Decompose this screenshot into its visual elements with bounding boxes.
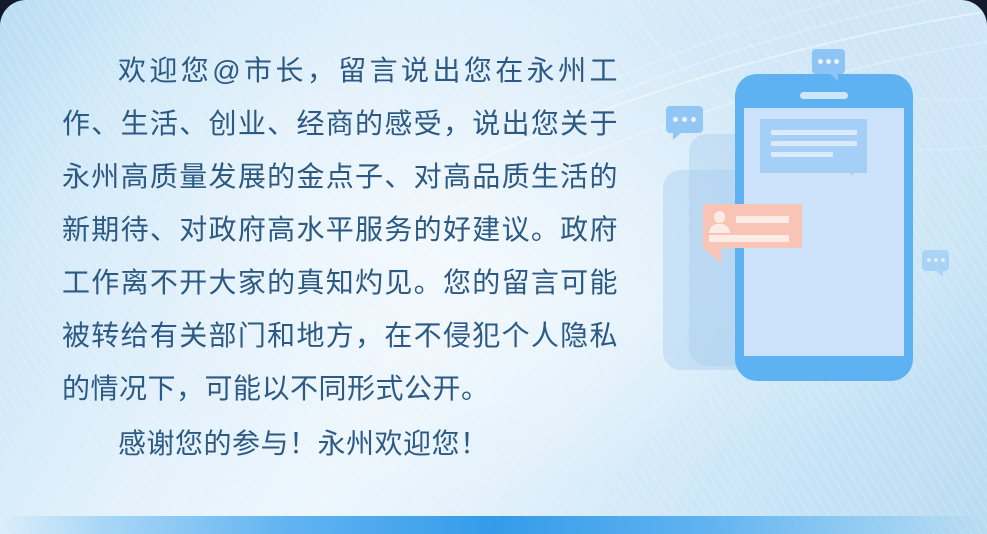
message-text-line: [771, 130, 857, 135]
notice-paragraph-main: 欢迎您@市长，留言说出您在永州工作、生活、创业、经商的感受，说出您关于永州高质量…: [62, 44, 618, 415]
user-avatar-icon: [709, 224, 730, 233]
chat-bubble-tail-icon: [673, 132, 682, 140]
reply-text-line: [736, 216, 789, 223]
chat-dot-icon: [934, 258, 938, 262]
chat-bubble-icon: [922, 250, 949, 271]
chat-bubble-tail-icon: [935, 270, 943, 277]
chat-bubble-icon: [812, 49, 845, 74]
message-text-line: [771, 141, 857, 146]
chat-bubble-icon: [666, 106, 703, 133]
message-bubble-tail-icon: [851, 162, 867, 176]
chat-dot-icon: [682, 117, 687, 122]
reply-bubble-tail-icon: [703, 248, 721, 263]
chat-dot-icon: [941, 258, 945, 262]
chat-dot-icon: [691, 117, 696, 122]
reply-text-line: [709, 235, 789, 242]
chat-dot-icon: [818, 59, 823, 64]
chat-bubble-tail-icon: [829, 73, 838, 81]
notice-paragraph-closing: 感谢您的参与！永州欢迎您！: [62, 417, 618, 470]
user-avatar-icon: [714, 211, 725, 223]
chat-dot-icon: [834, 59, 839, 64]
phone-speaker-icon: [800, 92, 848, 99]
reply-bubble-icon: [703, 204, 802, 248]
bottom-accent-bar: [0, 516, 987, 534]
mobile-message-illustration: [645, 28, 987, 448]
message-text-line: [771, 152, 833, 157]
chat-dot-icon: [826, 59, 831, 64]
notice-text-block: 欢迎您@市长，留言说出您在永州工作、生活、创业、经商的感受，说出您关于永州高质量…: [62, 44, 618, 470]
chat-dot-icon: [927, 258, 931, 262]
chat-dot-icon: [673, 117, 678, 122]
notice-card: 欢迎您@市长，留言说出您在永州工作、生活、创业、经商的感受，说出您关于永州高质量…: [0, 0, 987, 534]
